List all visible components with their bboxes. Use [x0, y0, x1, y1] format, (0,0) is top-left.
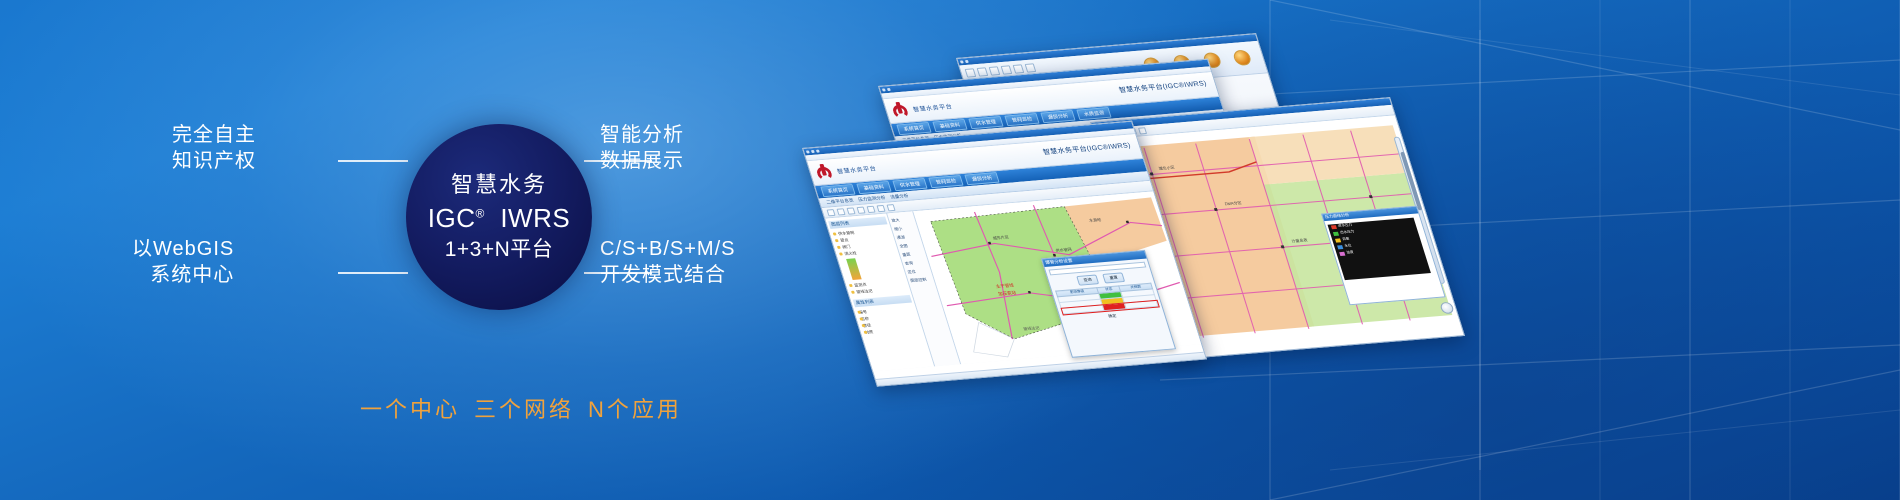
feature-top-right-line1: 智能分析: [600, 122, 684, 148]
legend-swatch: [1335, 238, 1341, 242]
badge-platform: 1+3+N平台: [445, 239, 554, 260]
brand-label: 智慧水务平台: [836, 164, 878, 176]
connector-line-top-left: [338, 160, 408, 162]
zoom-in-icon[interactable]: [826, 209, 835, 216]
badge-title: 智慧水务: [451, 174, 547, 196]
concept-graphic: 完全自主 知识产权 智能分析 数据展示 以WebGIS 系统中心 C/S+B/S…: [0, 0, 820, 500]
feature-label-top-right: 智能分析 数据展示: [600, 122, 684, 175]
feature-bottom-left-line2: 系统中心: [132, 262, 234, 288]
legend-label: 水位: [1344, 243, 1353, 248]
brand-label-back: 智慧水务平台: [912, 102, 954, 114]
legend-swatch: [1339, 251, 1345, 255]
full-extent-icon[interactable]: [856, 206, 865, 213]
ribbon-large-button[interactable]: [1232, 49, 1253, 66]
feature-label-bottom-left: 以WebGIS 系统中心: [132, 236, 234, 289]
feature-bottom-right-line1: C/S+B/S+M/S: [600, 236, 736, 262]
hero-banner: 完全自主 知识产权 智能分析 数据展示 以WebGIS 系统中心 C/S+B/S…: [0, 0, 1900, 500]
screenshot-stack: 智慧水务平台 智慧水务平台(IGC®IWRS) 系统首页 基础资料 供水管理 管…: [760, 30, 1360, 370]
pan-icon[interactable]: [846, 207, 855, 214]
tagline-part2: 三个网络: [474, 397, 574, 422]
attribute-key: 编号: [858, 309, 868, 314]
tagline-part1: 一个中心: [360, 397, 460, 422]
window-control-icon: [811, 150, 815, 153]
ribbon-button[interactable]: [965, 68, 977, 77]
legend-label: 进水压力: [1338, 223, 1354, 229]
legend-swatch: [1337, 245, 1343, 249]
table-cell-status: [1102, 303, 1126, 311]
badge-brand-line: IGC® IWRS: [428, 205, 570, 231]
dialog-query-button[interactable]: 查询: [1076, 274, 1099, 285]
company-logo-icon: [814, 163, 835, 182]
legend-label: 出水压力: [1340, 229, 1356, 235]
window-control-icon: [887, 88, 891, 91]
legend-label: 浊度: [1346, 250, 1355, 255]
window-control-icon: [816, 150, 820, 153]
platform-title: 智慧水务平台(IGC®IWRS): [1042, 140, 1132, 157]
query-icon[interactable]: [1138, 127, 1147, 134]
table-cell-count: [1124, 300, 1157, 308]
svg-text:水源地: 水源地: [1088, 217, 1101, 223]
feature-bottom-left-line1: 以WebGIS: [132, 236, 234, 262]
window-control-icon: [965, 60, 969, 63]
measure-icon[interactable]: [866, 205, 875, 212]
search-icon[interactable]: [876, 204, 885, 211]
sub-nav-item-overview[interactable]: 二维平台总览: [825, 197, 854, 205]
legend-label: 流量: [1342, 237, 1351, 242]
sub-nav-item-pressure[interactable]: 压力监测分析: [857, 195, 886, 203]
window-control-icon: [882, 88, 886, 91]
registered-mark-icon: ®: [476, 206, 485, 220]
feature-top-left-line1: 完全自主: [172, 122, 256, 148]
ribbon-button[interactable]: [1001, 65, 1013, 74]
platform-title-back: 智慧水务平台(IGC®IWRS): [1118, 78, 1208, 95]
dialog-reset-button[interactable]: 重置: [1102, 272, 1125, 283]
legend-swatch: [1331, 225, 1337, 229]
legend-gradient: [846, 258, 862, 280]
window-control-icon: [960, 60, 964, 63]
company-logo-icon: [890, 101, 911, 120]
attribute-key: 管径: [862, 322, 872, 327]
attribute-key: 材质: [864, 329, 874, 334]
zoom-out-icon[interactable]: [836, 208, 845, 215]
center-badge-circle: 智慧水务 IGC® IWRS 1+3+N平台: [406, 124, 592, 310]
ribbon-button[interactable]: [1013, 64, 1025, 73]
print-icon[interactable]: [886, 204, 895, 211]
ribbon-button[interactable]: [1025, 63, 1037, 72]
ribbon-button[interactable]: [977, 67, 989, 76]
feature-label-top-left: 完全自主 知识产权: [172, 122, 256, 175]
legend-swatch: [1333, 231, 1339, 235]
window-control-icon: [806, 150, 810, 153]
chart-legend: 进水压力 出水压力 流量 水位 浊度: [1328, 218, 1431, 281]
tagline-part3: N个应用: [588, 397, 682, 422]
tool-item[interactable]: 图层控制: [908, 274, 934, 285]
connector-line-bottom-left: [338, 272, 408, 274]
feature-top-left-line2: 知识产权: [172, 148, 256, 174]
feature-label-bottom-right: C/S+B/S+M/S 开发模式结合: [600, 236, 736, 289]
badge-product: IWRS: [500, 203, 570, 233]
feature-top-right-line2: 数据展示: [600, 148, 684, 174]
ribbon-button[interactable]: [989, 66, 1001, 75]
feature-bottom-right-line2: 开发模式结合: [600, 262, 736, 288]
sub-nav-item-flow[interactable]: 流量分析: [889, 193, 909, 200]
badge-brand: IGC: [428, 203, 476, 233]
attribute-key: 名称: [860, 315, 870, 320]
tagline: 一个中心三个网络N个应用: [360, 392, 780, 424]
